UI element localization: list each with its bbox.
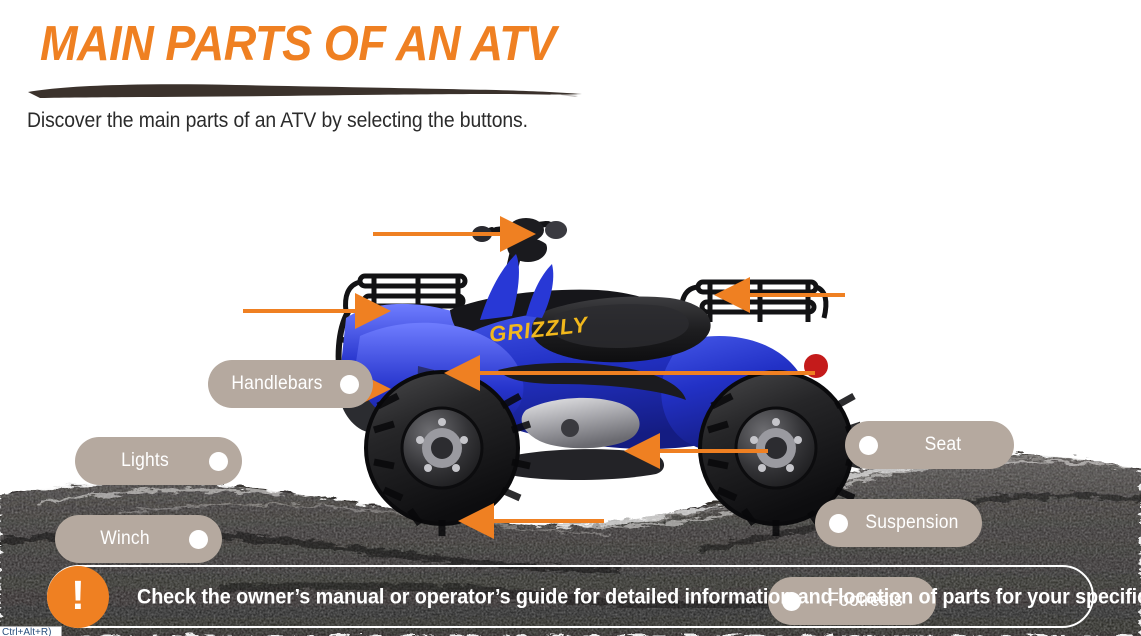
part-button-handlebars[interactable]: Handlebars bbox=[208, 360, 373, 408]
part-button-winch[interactable]: Winch bbox=[55, 515, 222, 563]
selector-dot-icon bbox=[189, 530, 208, 549]
part-label-handlebars: Handlebars bbox=[226, 373, 327, 395]
selector-dot-icon bbox=[829, 514, 848, 533]
part-button-seat[interactable]: Seat bbox=[845, 421, 1014, 469]
part-label-winch: Winch bbox=[73, 528, 176, 550]
notice-text: Check the owner’s manual or operator’s g… bbox=[137, 584, 1141, 609]
part-label-lights: Lights bbox=[93, 450, 196, 472]
atv-diagram-scene: GRIZZLY bbox=[0, 150, 1141, 636]
exclamation-icon: ! bbox=[47, 566, 109, 628]
part-label-seat: Seat bbox=[891, 434, 996, 456]
title-brush-underline bbox=[26, 78, 586, 104]
edge-tooltip: Ctrl+Alt+R) bbox=[0, 626, 62, 636]
part-button-suspension[interactable]: Suspension bbox=[815, 499, 982, 547]
page-title: MAIN PARTS OF AN ATV bbox=[40, 16, 556, 72]
atv-illustration: GRIZZLY bbox=[330, 190, 860, 560]
part-button-lights[interactable]: Lights bbox=[75, 437, 242, 485]
part-label-suspension: Suspension bbox=[860, 512, 963, 534]
notice-banner: ! Check the owner’s manual or operator’s… bbox=[47, 565, 1094, 628]
selector-dot-icon bbox=[859, 436, 878, 455]
selector-dot-icon bbox=[340, 375, 359, 394]
page-subtitle: Discover the main parts of an ATV by sel… bbox=[27, 108, 528, 133]
selector-dot-icon bbox=[209, 452, 228, 471]
atv-parts-interactive-page: MAIN PARTS OF AN ATV Discover the main p… bbox=[0, 0, 1141, 636]
